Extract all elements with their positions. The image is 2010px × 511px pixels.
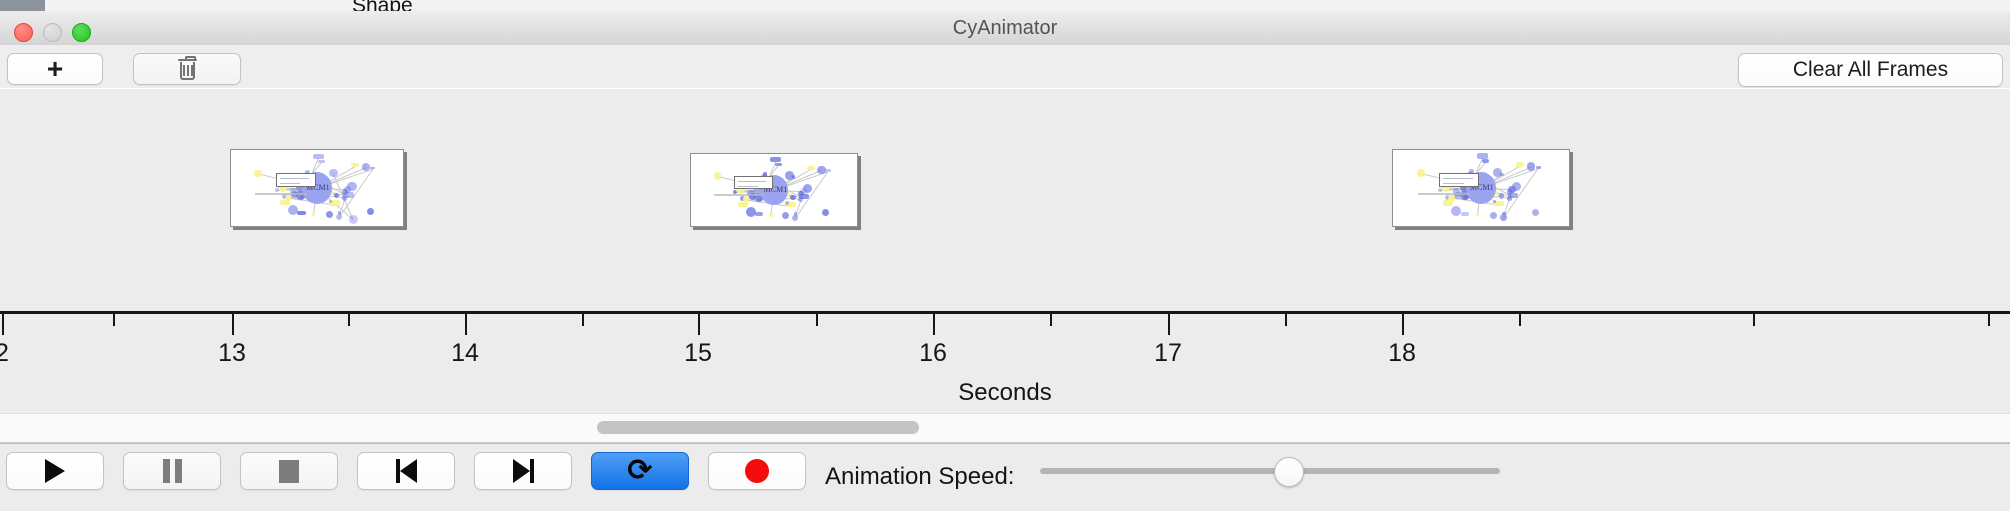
- network-node: [1476, 213, 1480, 217]
- axis-tick-minor: [113, 314, 115, 326]
- network-node: [825, 169, 830, 172]
- network-graph: MCM1: [691, 154, 857, 226]
- axis-tick-label: 15: [684, 339, 712, 368]
- play-button[interactable]: [6, 452, 104, 490]
- axis-tick-minor: [1519, 314, 1521, 326]
- network-node: [782, 212, 789, 219]
- network-node: [803, 184, 812, 193]
- timeline-panel[interactable]: MCM1MCM1MCM1 2131415161718 Seconds: [0, 88, 2010, 414]
- loop-icon: ⟳: [627, 456, 652, 486]
- axis-tick-major: [1168, 314, 1170, 335]
- caption-text: [714, 194, 764, 196]
- caption-text: [255, 193, 307, 195]
- axis-tick-major: [1402, 314, 1404, 335]
- network-node: [738, 202, 748, 207]
- network-node: [1482, 159, 1489, 163]
- network-node: [313, 154, 324, 159]
- network-node: [807, 166, 815, 170]
- timeline-frame[interactable]: MCM1: [1392, 149, 1570, 227]
- axis-tick-major: [465, 314, 467, 335]
- background-window-strip: Shape: [0, 0, 2010, 11]
- record-button[interactable]: [708, 452, 806, 490]
- annotation-box: [734, 176, 773, 190]
- axis-tick-minor: [582, 314, 584, 326]
- clear-all-frames-button[interactable]: Clear All Frames: [1738, 53, 2003, 87]
- skip-to-end-button[interactable]: [474, 452, 572, 490]
- network-node: [1417, 169, 1425, 177]
- clear-all-frames-label: Clear All Frames: [1793, 58, 1948, 82]
- network-node: [822, 209, 829, 216]
- background-window-label: Shape: [352, 0, 413, 11]
- record-icon: [745, 459, 769, 483]
- timeline-frame[interactable]: MCM1: [230, 149, 404, 227]
- cyanimator-window: Shape CyAnimator + Clear All Frames: [0, 0, 2010, 510]
- timeline-scrollbar-track[interactable]: [0, 413, 2010, 443]
- title-bar: CyAnimator: [0, 11, 2010, 46]
- network-node: [351, 163, 359, 167]
- network-node: [790, 195, 795, 200]
- network-node: [280, 200, 290, 205]
- animation-speed-label: Animation Speed:: [825, 443, 1014, 510]
- network-node: [370, 167, 375, 170]
- network-node: [1507, 196, 1512, 201]
- network-node: [1477, 153, 1488, 158]
- axis-tick-minor: [348, 314, 350, 326]
- pause-icon: [163, 459, 182, 483]
- pause-button[interactable]: [123, 452, 221, 490]
- network-node: [342, 196, 347, 201]
- network-node: [312, 212, 316, 216]
- axis-tick-label: 14: [451, 339, 479, 368]
- axis-tick-major: [698, 314, 700, 335]
- network-node: [746, 207, 756, 217]
- stop-button[interactable]: [240, 452, 338, 490]
- play-icon: [45, 459, 65, 483]
- network-node: [326, 211, 333, 218]
- axis-tick-major: [232, 314, 234, 335]
- network-node: [1443, 200, 1453, 205]
- axis-tick-label: 18: [1388, 339, 1416, 368]
- network-node: [770, 157, 781, 162]
- network-node: [798, 197, 803, 202]
- network-node: [775, 163, 782, 167]
- axis-tick-minor: [1050, 314, 1052, 326]
- timeline-axis: [0, 311, 2010, 314]
- network-node: [714, 172, 722, 180]
- network-node: [769, 213, 773, 217]
- window-title: CyAnimator: [0, 11, 2010, 45]
- network-node: [1451, 206, 1461, 216]
- frame-toolbar: + Clear All Frames: [0, 45, 2010, 89]
- network-node: [367, 208, 374, 215]
- network-node: [1499, 193, 1504, 198]
- axis-tick-minor: [1988, 314, 1990, 326]
- network-node: [338, 211, 342, 215]
- timeline-frame[interactable]: MCM1: [690, 153, 858, 227]
- loop-button[interactable]: ⟳: [591, 452, 689, 490]
- axis-tick-label: 17: [1154, 339, 1182, 368]
- network-node: [349, 215, 358, 224]
- network-node: [1512, 182, 1521, 191]
- axis-tick-minor: [816, 314, 818, 326]
- skip-forward-icon: [513, 459, 534, 483]
- network-graph: MCM1: [1393, 150, 1569, 226]
- annotation-box: [276, 173, 316, 187]
- network-node: [254, 170, 262, 178]
- network-node: [1461, 212, 1470, 216]
- network-node: [1536, 166, 1541, 169]
- network-node: [334, 193, 339, 198]
- axis-tick-label: 16: [919, 339, 947, 368]
- skip-to-start-button[interactable]: [357, 452, 455, 490]
- axis-tick-major: [933, 314, 935, 335]
- add-frame-button[interactable]: +: [7, 53, 103, 85]
- axis-tick-minor: [1285, 314, 1287, 326]
- caption-text: [1418, 193, 1471, 195]
- network-node: [297, 211, 306, 215]
- timeline-scrollbar-thumb[interactable]: [597, 421, 919, 434]
- network-node: [1490, 212, 1497, 219]
- network-node: [1532, 209, 1539, 216]
- axis-tick-label: 2: [0, 339, 9, 368]
- network-node: [817, 166, 825, 174]
- skip-backward-icon: [396, 459, 417, 483]
- plus-icon: +: [47, 55, 63, 83]
- network-graph: MCM1: [231, 150, 403, 226]
- network-node: [1516, 162, 1524, 166]
- axis-tick-major: [2, 314, 4, 335]
- network-node: [318, 160, 325, 164]
- network-node: [755, 212, 764, 216]
- annotation-box: [1439, 173, 1480, 187]
- network-node: [785, 201, 788, 204]
- network-node: [347, 182, 356, 191]
- stop-icon: [279, 460, 299, 483]
- axis-tick-minor: [1753, 314, 1755, 326]
- trash-icon: [179, 59, 196, 80]
- axis-title: Seconds: [0, 379, 2010, 407]
- network-node: [1500, 214, 1507, 221]
- animation-speed-slider-track[interactable]: [1040, 468, 1500, 474]
- delete-frame-button[interactable]: [133, 53, 241, 85]
- axis-tick-label: 13: [218, 339, 246, 368]
- network-node: [329, 169, 338, 178]
